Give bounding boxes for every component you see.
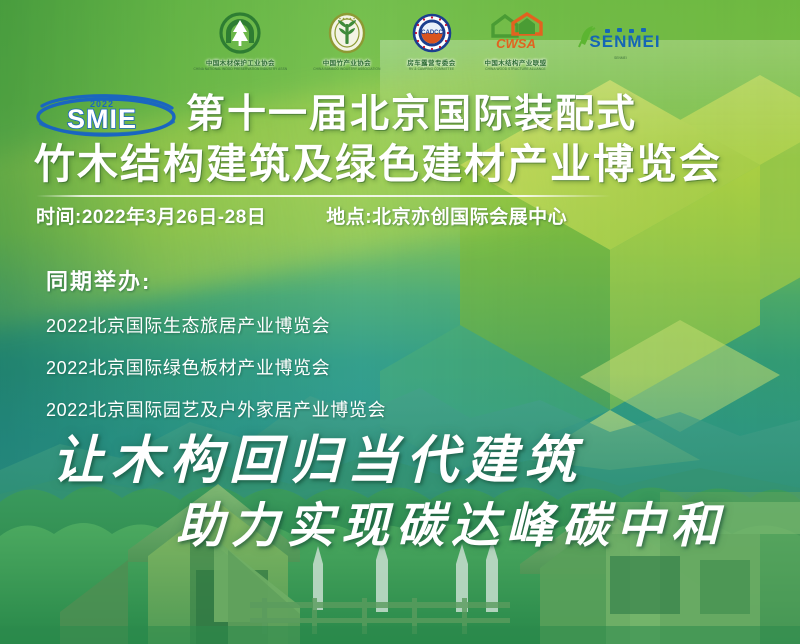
organizer-name-en: CHINA NATIONAL WOOD PRESERVATION INDUSTR… (194, 67, 288, 71)
concurrent-event-item: 2022北京国际绿色板材产业博览会 (46, 354, 386, 380)
organizer-logo-cadcc: CADCC 房车露营专委会 RV & CAMPING COMMITTEE (407, 12, 457, 71)
organizer-logo-bamboo-industry: ★ ★ ★ ★ ★ 中国竹产业协会 CHINA BAMBOO INDUSTRY … (313, 12, 380, 71)
house-cwsa-emblem-icon: CWSA (483, 12, 549, 56)
organizer-name-en: CHINA BAMBOO INDUSTRY ASSOCIATION (313, 67, 380, 71)
organizer-name-en: SENMEI (614, 56, 627, 60)
event-date: 时间:2022年3月26日-28日 (36, 202, 266, 229)
organizer-logo-cwsa: CWSA 中国木结构产业联盟 CHINA WOOD STRUCTURE ALLI… (483, 12, 549, 71)
senmei-leaf-wordmark-icon: SENMEI (575, 23, 667, 55)
concurrent-events-block: 同期举办: 2022北京国际生态旅居产业博览会 2022北京国际绿色板材产业博览… (46, 264, 386, 438)
concurrent-events-heading: 同期举办: (46, 264, 386, 296)
organizer-name-cn: 房车露营专委会 (407, 57, 455, 67)
organizer-name-cn: 中国竹产业协会 (323, 57, 371, 67)
cadcc-round-emblem-icon: CADCC (407, 12, 457, 56)
headline-line-1: 第十一届北京国际装配式 (186, 92, 637, 138)
organizer-logo-china-wood-protection: 中国木材保护工业协会 CHINA NATIONAL WOOD PRESERVAT… (194, 12, 288, 71)
organizer-name-cn: 中国木材保护工业协会 (206, 57, 275, 67)
svg-text:CWSA: CWSA (496, 36, 536, 51)
organizer-name-en: CHINA WOOD STRUCTURE ALLIANCE (485, 67, 545, 71)
headline-row: 2022 SMIE 第十一届北京国际装配式 (34, 92, 637, 138)
concurrent-event-item: 2022北京国际生态旅居产业博览会 (46, 312, 386, 338)
svg-text:★ ★ ★ ★ ★: ★ ★ ★ ★ ★ (338, 16, 355, 20)
slogan-line-1: 让木构回归当代建筑 (52, 418, 583, 493)
headline-line-2: 竹木结构建筑及绿色建材产业博览会 (34, 138, 722, 190)
organizer-logo-senmei: SENMEI SENMEI (575, 23, 667, 60)
event-venue: 地点:北京亦创国际会展中心 (326, 202, 567, 229)
svg-text:CADCC: CADCC (421, 30, 443, 36)
organizer-name-cn: 中国木结构产业联盟 (484, 57, 546, 67)
organizer-logo-strip: 中国木材保护工业协会 CHINA NATIONAL WOOD PRESERVAT… (0, 0, 800, 82)
exhibition-banner: 中国木材保护工业协会 CHINA NATIONAL WOOD PRESERVAT… (0, 0, 800, 644)
tree-shield-emblem-icon (214, 12, 266, 56)
smie-oval-swoosh-logo-icon: 2022 SMIE (34, 92, 178, 138)
headline-divider (36, 195, 611, 197)
organizer-name-en: RV & CAMPING COMMITTEE (409, 67, 454, 71)
slogan-line-2: 助力实现碳达峰碳中和 (176, 486, 726, 556)
bamboo-seal-emblem-icon: ★ ★ ★ ★ ★ (322, 12, 372, 56)
event-meta-row: 时间:2022年3月26日-28日 地点:北京亦创国际会展中心 (36, 202, 567, 229)
smie-wordmark-text: SMIE (67, 104, 137, 134)
svg-text:SENMEI: SENMEI (589, 32, 660, 51)
